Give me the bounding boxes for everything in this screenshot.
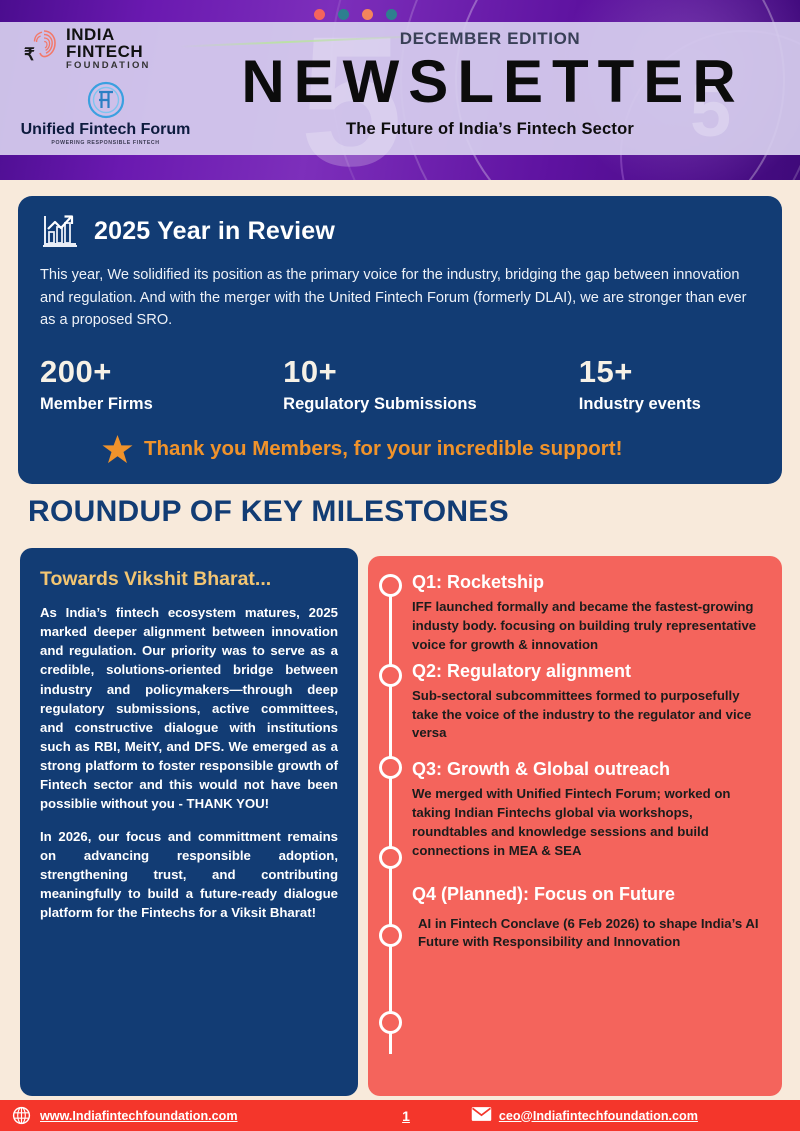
uff-name: Unified Fintech Forum: [18, 121, 193, 139]
star-icon: [102, 434, 133, 465]
timeline-node-end: [379, 1011, 402, 1034]
footer-website-link[interactable]: www.Indiafintechfoundation.com: [40, 1109, 238, 1123]
year-in-review-header: 2025 Year in Review: [40, 212, 760, 250]
timeline-body: We merged with Unified Fintech Forum; wo…: [412, 785, 768, 860]
stat-number: 200+: [40, 354, 283, 390]
page-footer: www.Indiafintechfoundation.com 1 ceo@Ind…: [0, 1100, 800, 1131]
timeline-node-q4-end: [379, 924, 402, 947]
bar-chart-growth-icon: [40, 212, 80, 250]
unified-fintech-forum-logo: Unified Fintech Forum POWERING RESPONSIB…: [18, 81, 193, 146]
stat-industry-events: 15+ Industry events: [579, 354, 760, 414]
globe-icon: [12, 1106, 31, 1125]
logo-line-india: INDIA: [66, 26, 151, 43]
timeline-items: Q1: Rocketship IFF launched formally and…: [412, 570, 768, 952]
logo-line-fintech: FINTECH: [66, 43, 151, 60]
towards-vikshit-bharat-card: Towards Vikshit Bharat... As India’s fin…: [20, 548, 358, 1096]
stat-label: Regulatory Submissions: [283, 395, 579, 414]
india-fintech-foundation-logo: ₹ INDIA FINTECH FOUNDATION: [18, 26, 193, 71]
logo-primary-text: INDIA FINTECH FOUNDATION: [66, 26, 151, 71]
envelope-icon: [471, 1106, 490, 1125]
edition-label: DECEMBER EDITION: [190, 29, 790, 49]
section-title-milestones: ROUNDUP OF KEY MILESTONES: [28, 495, 509, 529]
svg-text:₹: ₹: [24, 45, 35, 64]
stat-number: 10+: [283, 354, 579, 390]
thank-you-banner: Thank you Members, for your incredible s…: [40, 434, 760, 465]
dot-4: [386, 9, 397, 20]
logo-group: ₹ INDIA FINTECH FOUNDATION: [18, 26, 193, 146]
timeline-heading: Q1: Rocketship: [412, 570, 768, 594]
newsletter-title: NEWSLETTER: [196, 50, 790, 113]
timeline-item-q1: Q1: Rocketship IFF launched formally and…: [412, 570, 768, 655]
dot-3: [362, 9, 373, 20]
timeline-item-q2: Q2: Regulatory alignment Sub-sectoral su…: [412, 659, 768, 744]
timeline-body: AI in Fintech Conclave (6 Feb 2026) to s…: [412, 915, 768, 952]
uff-monogram-icon: [87, 81, 125, 119]
timeline-node-q2: [379, 664, 402, 687]
timeline-item-q3: Q3: Growth & Global outreach We merged w…: [412, 757, 768, 860]
timeline-heading: Q3: Growth & Global outreach: [412, 757, 768, 781]
thank-you-text: Thank you Members, for your incredible s…: [144, 437, 622, 461]
stats-row: 200+ Member Firms 10+ Regulatory Submiss…: [40, 354, 760, 414]
timeline-item-q4: Q4 (Planned): Focus on Future AI in Fint…: [412, 882, 768, 952]
stat-number: 15+: [579, 354, 760, 390]
timeline-body: IFF launched formally and became the fas…: [412, 598, 768, 654]
footer-page-number: 1: [341, 1108, 471, 1124]
timeline-body: Sub-sectoral subcommittees formed to pur…: [412, 687, 768, 743]
stat-member-firms: 200+ Member Firms: [40, 354, 283, 414]
left-card-paragraph-2: In 2026, our focus and committment remai…: [40, 827, 338, 923]
footer-email-group[interactable]: ceo@Indiafintechfoundation.com: [471, 1106, 800, 1125]
dot-1: [314, 9, 325, 20]
timeline-heading: Q2: Regulatory alignment: [412, 659, 768, 683]
timeline-node-q4: [379, 846, 402, 869]
year-in-review-body: This year, We solidified its position as…: [40, 264, 760, 332]
thumbprint-rupee-icon: ₹: [24, 28, 58, 68]
dot-2: [338, 9, 349, 20]
left-card-heading: Towards Vikshit Bharat...: [40, 568, 338, 591]
left-card-paragraph-1: As India’s fintech ecosystem matures, 20…: [40, 603, 338, 814]
timeline-heading: Q4 (Planned): Focus on Future: [412, 882, 768, 906]
stat-label: Member Firms: [40, 395, 283, 414]
year-in-review-title: 2025 Year in Review: [94, 217, 335, 246]
page-header: 5 5 ₹: [0, 0, 800, 180]
header-dots: [314, 9, 397, 20]
header-title-block: DECEMBER EDITION NEWSLETTER The Future o…: [190, 26, 790, 139]
newsletter-subtitle: The Future of India’s Fintech Sector: [190, 120, 790, 139]
stat-label: Industry events: [579, 395, 760, 414]
timeline-rail: [389, 586, 392, 1054]
milestones-timeline-card: Q1: Rocketship IFF launched formally and…: [368, 556, 782, 1096]
newsletter-page: 5 5 ₹: [0, 0, 800, 1131]
footer-email-link[interactable]: ceo@Indiafintechfoundation.com: [499, 1109, 698, 1123]
footer-website-group[interactable]: www.Indiafintechfoundation.com: [12, 1106, 341, 1125]
uff-tagline: POWERING RESPONSIBLE FINTECH: [18, 140, 193, 146]
timeline-node-q1: [379, 574, 402, 597]
timeline-node-q3: [379, 756, 402, 779]
logo-line-foundation: FOUNDATION: [66, 61, 151, 71]
year-in-review-card: 2025 Year in Review This year, We solidi…: [18, 196, 782, 484]
stat-regulatory-submissions: 10+ Regulatory Submissions: [283, 354, 579, 414]
